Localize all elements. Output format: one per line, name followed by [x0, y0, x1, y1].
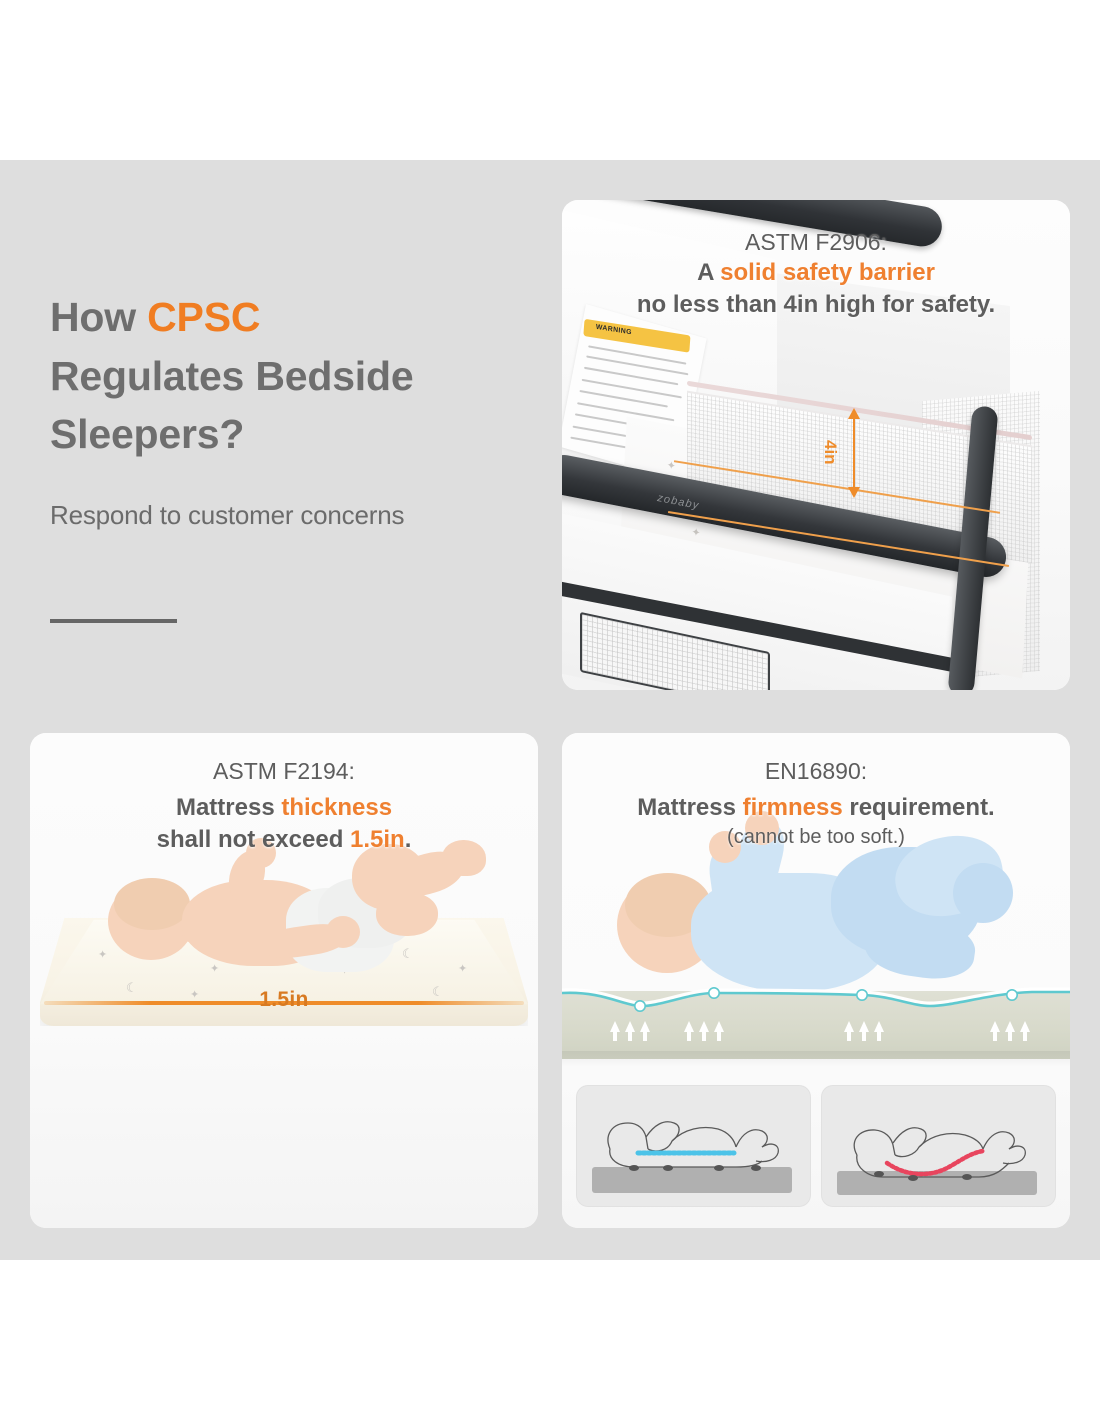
- caption-barrier-line3: no less than 4in high for safety.: [562, 289, 1070, 320]
- caption-firmness-prefix: Mattress: [637, 794, 742, 821]
- caption-firmness-accent: firmness: [743, 794, 843, 821]
- panel-mattress-firmness: EN16890: Mattress firmness requirement. …: [562, 733, 1070, 1228]
- thumbnail-soft-svg: [821, 1085, 1056, 1207]
- caption-barrier-accent: solid safety barrier: [720, 259, 935, 286]
- caption-thickness-line3-prefix: shall not exceed: [157, 826, 350, 853]
- caption-thickness-line3-accent: 1.5in: [350, 826, 405, 853]
- page-title: How CPSC Regulates Bedside Sleepers?: [50, 288, 520, 464]
- headline-line1-prefix: How: [50, 294, 147, 340]
- caption-safety-barrier: ASTM F2906: A solid safety barrier no le…: [562, 228, 1070, 320]
- thumbnail-soft-mattress: [821, 1085, 1056, 1207]
- panel-mattress-thickness: ✦ ☾ ✦ ☾ ✦ ☾ ✦ ☾ ✦ ☾: [30, 733, 538, 1228]
- caption-mattress-firmness: EN16890: Mattress firmness requirement. …: [562, 757, 1070, 850]
- panel-safety-barrier: WARNING ✦ ☾ ✦ ☾ ✦ ☾ ✦ ☾ ✦ ☾ ✦: [562, 200, 1070, 690]
- support-arrows-3: [844, 1021, 884, 1032]
- title-divider: [50, 619, 177, 623]
- headline-line3: Sleepers?: [50, 405, 520, 464]
- caption-thickness-prefix: Mattress: [176, 794, 281, 821]
- thumbnail-firm-mattress: [576, 1085, 811, 1207]
- caption-thickness-accent: thickness: [281, 794, 392, 821]
- mattress-shadow: [562, 1051, 1070, 1067]
- dimension-label-1-5in: 1.5in: [30, 988, 538, 1012]
- caption-barrier-prefix: A: [697, 259, 720, 286]
- headline-line2: Regulates Bedside: [50, 347, 520, 406]
- baby-photo-thickness: [90, 838, 490, 1013]
- support-arrows-2: [684, 1021, 724, 1032]
- caption-firmness-note: (cannot be too soft.): [562, 824, 1070, 850]
- page-subtitle: Respond to customer concerns: [50, 500, 570, 531]
- caption-standard-astm-f2906: ASTM F2906:: [562, 228, 1070, 257]
- caption-firmness-suffix: requirement.: [843, 794, 995, 821]
- thumbnail-firm-svg: [576, 1085, 811, 1207]
- dimension-arrow-4in: [847, 408, 861, 498]
- caption-standard-en16890: EN16890:: [562, 757, 1070, 786]
- caption-mattress-thickness: ASTM F2194: Mattress thickness shall not…: [30, 757, 538, 855]
- dimension-label-4in: 4in: [820, 440, 840, 465]
- support-arrows-4: [990, 1021, 1030, 1032]
- caption-standard-astm-f2194: ASTM F2194:: [30, 757, 538, 786]
- headline-accent-cpsc: CPSC: [147, 294, 260, 340]
- caption-thickness-line3-suffix: .: [405, 826, 412, 853]
- support-arrows-1: [610, 1021, 650, 1032]
